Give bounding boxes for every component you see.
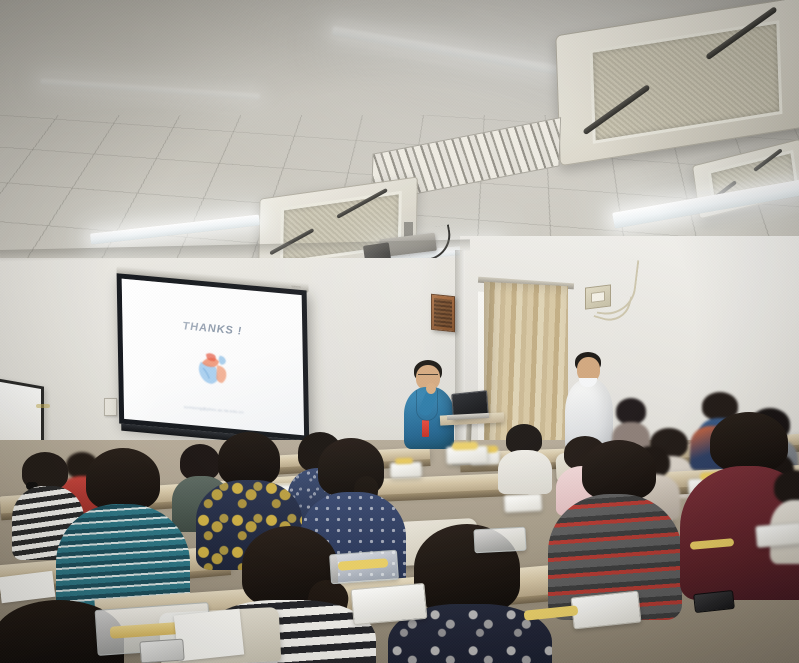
presenter-glasses [418,374,438,379]
screen-brand-tag: screen [291,284,300,289]
lunch-box [504,493,543,513]
smartphone[interactable] [139,638,184,663]
food-item [452,442,478,451]
audience-hair [86,448,160,510]
projection-screen: screen THANKS ! somsong@pbec.ac.tw.edu.c… [117,273,310,453]
audience-member-white-blouse [498,424,550,490]
wall-mark [36,404,50,408]
lunch-box [473,527,526,554]
wall-outlet-with-cables [585,284,611,309]
slide-footer-text: somsong@pbec.ac.tw.edu.cn [124,398,304,419]
anatomical-heart-illustration [191,347,236,391]
slide-title-text: THANKS ! [122,315,302,343]
screen-frame: THANKS ! somsong@pbec.ac.tw.edu.cn [117,273,310,441]
wall-mounted-speaker [431,294,455,333]
presenter-badge [422,420,429,437]
presenter-lanyard [416,390,438,421]
light-switch[interactable] [104,398,117,416]
ac-grille [589,20,782,144]
audience-member-striped-red-gray [548,440,678,616]
paper-handout[interactable] [174,609,244,662]
speaker-grille [434,298,452,328]
slide-surface: THANKS ! somsong@pbec.ac.tw.edu.cn [122,279,304,436]
lunch-box [755,522,799,548]
audience-member-pale-right [770,470,799,560]
lunch-box [351,583,428,625]
photo-scene: screen THANKS ! somsong@pbec.ac.tw.edu.c… [0,0,799,663]
